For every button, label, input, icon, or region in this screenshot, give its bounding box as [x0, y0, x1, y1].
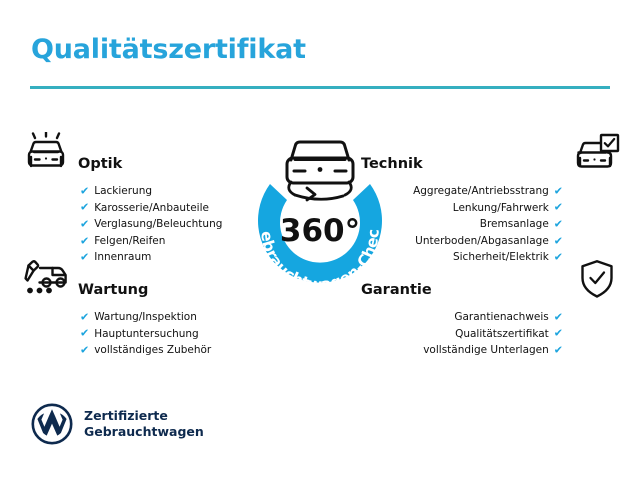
list-item: ✔ Hauptuntersuchung [80, 326, 282, 343]
check-icon: ✔ [554, 185, 563, 196]
list-item: ✔ vollständiges Zubehör [80, 342, 282, 359]
section-title: Wartung [78, 282, 148, 298]
list-item-label: Qualitätszertifikat [455, 326, 549, 343]
checklist-technik: ✔ Aggregate/Antriebsstrang ✔ Lenkung/Fah… [361, 183, 621, 266]
car-rotate-icon [287, 142, 353, 200]
list-item-label: Karosserie/Anbauteile [94, 200, 209, 217]
checklist-wartung: ✔ Wartung/Inspektion ✔ Hauptuntersuchung… [22, 309, 282, 359]
list-item: ✔ vollständige Unterlagen [361, 342, 563, 359]
list-item-label: Lenkung/Fahrwerk [453, 200, 549, 217]
check-icon: ✔ [554, 202, 563, 213]
check-icon: ✔ [80, 185, 89, 196]
check-icon: ✔ [554, 344, 563, 355]
footer-line-2: Gebrauchtwagen [84, 424, 204, 439]
list-item: ✔ Garantienachweis [361, 309, 563, 326]
section-header: Garantie [361, 256, 621, 300]
car-checkbox-icon [573, 132, 621, 174]
footer-line-1: Zertifizierte [84, 408, 168, 423]
section-header: Technik [361, 130, 621, 174]
list-item-label: Lackierung [94, 183, 152, 200]
check-icon: ✔ [554, 218, 563, 229]
list-item-label: Unterboden/Abgasanlage [415, 233, 549, 250]
check-icon: ✔ [80, 235, 89, 246]
list-item-label: vollständige Unterlagen [423, 342, 549, 359]
shield-check-icon [573, 258, 621, 300]
check-icon: ✔ [554, 235, 563, 246]
check-icon: ✔ [80, 202, 89, 213]
check-icon: ✔ [80, 218, 89, 229]
list-item-label: Felgen/Reifen [94, 233, 165, 250]
checklist-garantie: ✔ Garantienachweis ✔ Qualitätszertifikat… [361, 309, 621, 359]
check-icon: ✔ [80, 311, 89, 322]
list-item-label: Garantienachweis [454, 309, 548, 326]
page-title: Qualitätszertifikat [31, 34, 306, 65]
list-item: ✔ Qualitätszertifikat [361, 326, 563, 343]
list-item-label: Verglasung/Beleuchtung [94, 216, 222, 233]
car-wrench-icon [22, 258, 70, 300]
list-item-label: vollständiges Zubehör [94, 342, 211, 359]
car-shine-icon [22, 132, 70, 174]
list-item-label: Aggregate/Antriebsstrang [413, 183, 549, 200]
check-icon: ✔ [80, 344, 89, 355]
footer-brand: Zertifizierte Gebrauchtwagen [31, 403, 204, 445]
check-icon: ✔ [554, 328, 563, 339]
footer-brand-text: Zertifizierte Gebrauchtwagen [84, 408, 204, 440]
list-item: ✔ Wartung/Inspektion [80, 309, 282, 326]
badge-center-label: 360° [280, 213, 360, 249]
section-title: Optik [78, 156, 122, 172]
title-divider [30, 86, 610, 89]
vw-logo-icon [31, 403, 73, 445]
check-icon: ✔ [554, 311, 563, 322]
list-item-label: Bremsanlage [480, 216, 549, 233]
list-item-label: Wartung/Inspektion [94, 309, 197, 326]
section-garantie: Garantie ✔ Garantienachweis ✔ Qualitätsz… [361, 256, 621, 375]
list-item-label: Hauptuntersuchung [94, 326, 199, 343]
badge-360-gebrauchtwagen-check: Gebrauchtwagen-Check 360° [243, 124, 397, 306]
check-icon: ✔ [80, 328, 89, 339]
certificate-page: Qualitätszertifikat [0, 0, 640, 480]
